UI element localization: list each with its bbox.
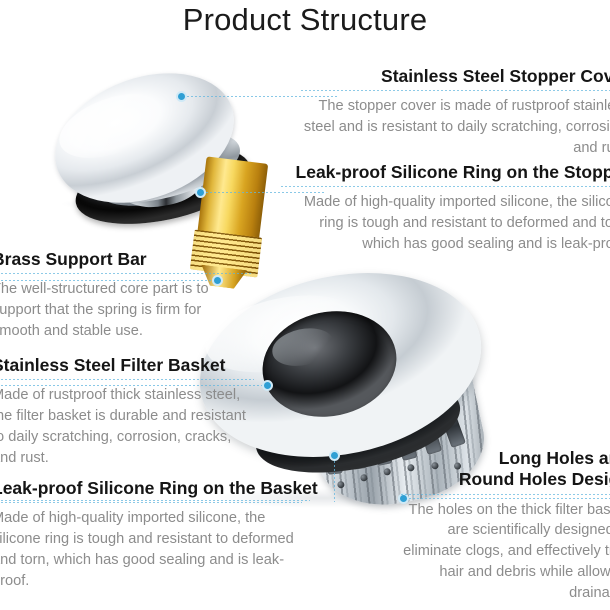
callout-leak-proof-silicone-ring-on-the-basket: Leak-proof Silicone Ring on the Basket M… bbox=[0, 478, 302, 591]
callout-brass-support-bar: Brass Support Bar The well-structured co… bbox=[0, 249, 252, 342]
callout-body: Made of high-quality imported silicone, … bbox=[280, 192, 610, 254]
brass-shaft bbox=[197, 156, 268, 241]
callout-body: The stopper cover is made of rustproof s… bbox=[300, 96, 610, 158]
infographic-canvas: Product Structure bbox=[0, 0, 610, 610]
callout-heading-line1: Long Holes and bbox=[499, 448, 610, 468]
callout-long-holes-and-round-holes-design: Long Holes and Round Holes Design The ho… bbox=[400, 448, 610, 603]
callout-stainless-steel-filter-basket: Stainless Steel Filter Basket Made of ru… bbox=[0, 355, 254, 468]
page-title: Product Structure bbox=[0, 2, 610, 38]
callout-heading: Leak-proof Silicone Ring on the Basket bbox=[0, 478, 302, 499]
callout-divider bbox=[280, 186, 610, 187]
callout-body: Made of rustproof thick stainless steel,… bbox=[0, 385, 254, 468]
callout-heading: Brass Support Bar bbox=[0, 249, 252, 270]
callout-stainless-steel-stopper-cover: Stainless Steel Stopper Cover The stoppe… bbox=[300, 66, 610, 159]
marker-stopper-cover bbox=[176, 91, 187, 102]
callout-divider bbox=[0, 379, 254, 380]
callout-heading: Stainless Steel Filter Basket bbox=[0, 355, 254, 376]
callout-divider bbox=[300, 90, 610, 91]
callout-leak-proof-silicone-ring-on-the-stopper: Leak-proof Silicone Ring on the Stopper … bbox=[280, 162, 610, 255]
callout-divider bbox=[0, 502, 302, 503]
callout-body: Made of high-quality imported silicone, … bbox=[0, 508, 302, 591]
callout-heading: Stainless Steel Stopper Cover bbox=[300, 66, 610, 87]
callout-heading: Leak-proof Silicone Ring on the Stopper bbox=[280, 162, 610, 183]
callout-heading-line2: Round Holes Design bbox=[459, 469, 610, 489]
callout-body: The well-structured core part is to supp… bbox=[0, 279, 252, 341]
marker-filter-basket bbox=[262, 380, 273, 391]
connector-silicone-basket-vertical bbox=[334, 456, 335, 502]
marker-silicone-basket bbox=[329, 450, 340, 461]
callout-body: The holes on the thick filter basket are… bbox=[400, 500, 610, 604]
callout-heading: Long Holes and Round Holes Design bbox=[400, 448, 610, 491]
callout-divider bbox=[400, 494, 610, 495]
marker-silicone-stopper bbox=[195, 187, 206, 198]
callout-divider bbox=[0, 273, 252, 274]
